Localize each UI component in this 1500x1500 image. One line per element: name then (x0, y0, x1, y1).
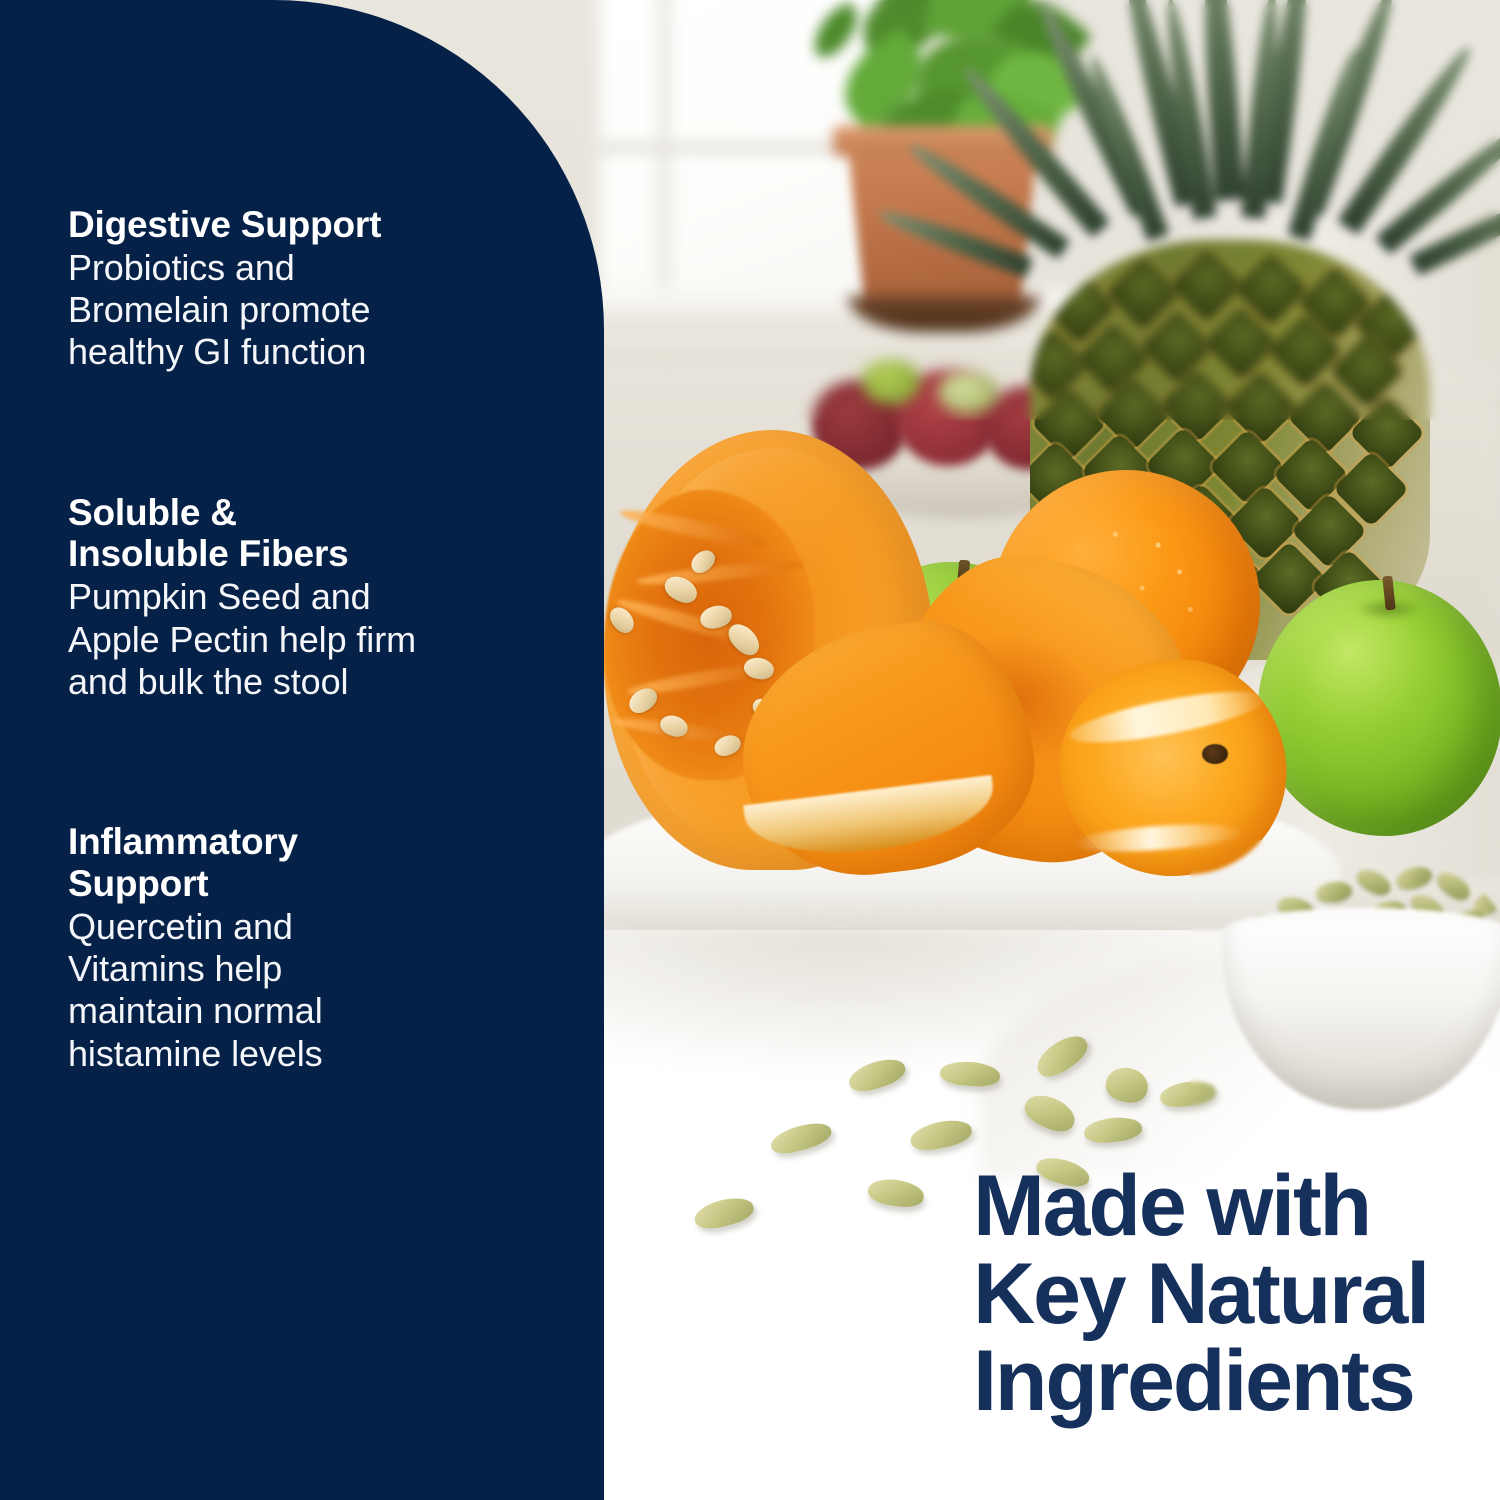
feature-body: Pumpkin Seed and Apple Pectin help firm … (68, 576, 552, 703)
feature-body: Probiotics and Bromelain promote healthy… (68, 247, 552, 374)
feature-body: Quercetin and Vitamins help maintain nor… (68, 906, 552, 1075)
feature-inflammatory-support: Inflammatory Support Quercetin and Vitam… (68, 821, 552, 1075)
feature-digestive-support: Digestive Support Probiotics and Bromela… (68, 204, 552, 374)
feature-title: Digestive Support (68, 204, 552, 246)
feature-soluble-insoluble-fibers: Soluble & Insoluble Fibers Pumpkin Seed … (68, 492, 552, 703)
headline: Made with Key Natural Ingredients (973, 1163, 1428, 1426)
features-panel: Digestive Support Probiotics and Bromela… (0, 0, 604, 1500)
promo-canvas: Digestive Support Probiotics and Bromela… (0, 0, 1500, 1500)
feature-title: Inflammatory Support (68, 821, 552, 905)
feature-title: Soluble & Insoluble Fibers (68, 492, 552, 576)
orange-stem-nub (1202, 744, 1228, 764)
